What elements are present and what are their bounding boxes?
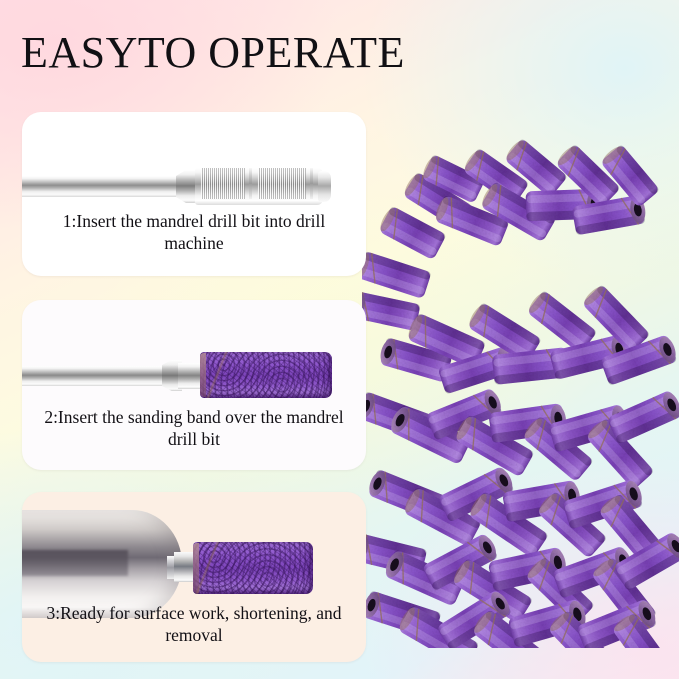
product-photo-sanding-bands	[362, 128, 679, 648]
mandrel-shaft	[22, 176, 184, 197]
mandrel-drill-bit-illustration	[22, 165, 340, 207]
sanding-band-pile	[362, 128, 679, 648]
sanding-band-seam	[200, 352, 332, 398]
sanding-band-seam	[193, 542, 313, 594]
step-card-1: 1:Insert the mandrel drill bit into dril…	[22, 112, 366, 276]
sanding-band	[193, 542, 313, 594]
mandrel-ring-b	[310, 168, 313, 199]
step-card-3: 3:Ready for surface work, shortening, an…	[22, 492, 366, 662]
page-title: EASYTO OPERATE	[21, 27, 405, 78]
mandrel-shaft	[22, 366, 170, 386]
mandrel-knurl-band-b	[258, 168, 306, 199]
step-3-caption: 3:Ready for surface work, shortening, an…	[22, 603, 366, 646]
sanding-band-item	[362, 250, 432, 299]
mandrel-ring-a	[249, 168, 252, 199]
sanding-band-left-edge	[193, 543, 199, 593]
mandrel-tip-cap	[318, 171, 331, 202]
mandrel-with-sanding-band-illustration	[22, 352, 340, 398]
step-2-caption: 2:Insert the sanding band over the mandr…	[22, 407, 366, 450]
mandrel-knurl-band-a	[201, 168, 245, 199]
drill-machine-shadow-band	[22, 550, 128, 576]
sanding-band-item	[607, 389, 679, 445]
sanding-band	[200, 352, 332, 398]
step-1-caption: 1:Insert the mandrel drill bit into dril…	[22, 211, 366, 254]
sanding-band-left-edge	[200, 353, 206, 397]
step-card-2: 2:Insert the sanding band over the mandr…	[22, 300, 366, 470]
